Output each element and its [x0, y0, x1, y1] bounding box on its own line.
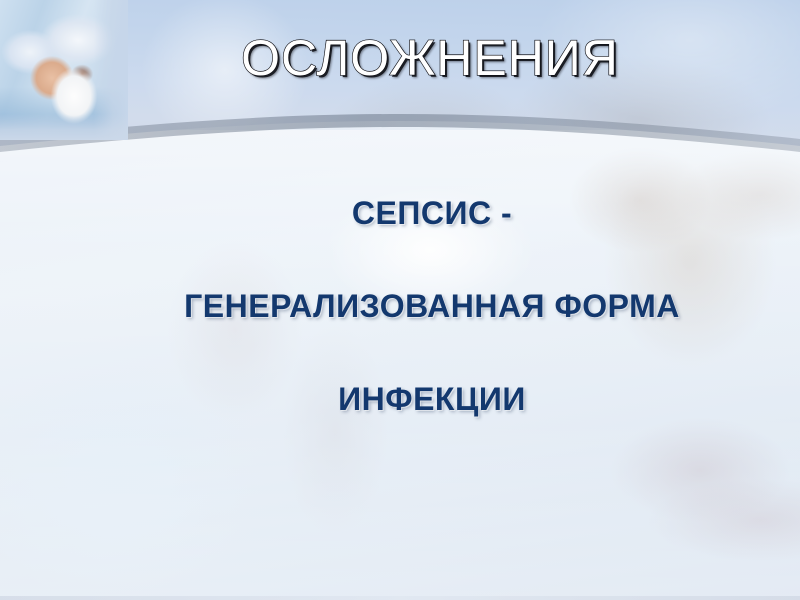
body-line-1: СЕПСИС - [184, 195, 680, 232]
photo-fade-bottom [0, 114, 128, 140]
presentation-slide: ОСЛОЖНЕНИЯ СЕПСИС - ГЕНЕРАЛИЗОВАННАЯ ФОР… [0, 0, 800, 600]
slide-title: ОСЛОЖНЕНИЯ [0, 32, 800, 85]
body-line-3: ИНФЕКЦИИ [184, 381, 680, 418]
slide-body-inner: СЕПСИС - ГЕНЕРАЛИЗОВАННАЯ ФОРМА ИНФЕКЦИИ [184, 195, 680, 418]
slide-body: СЕПСИС - ГЕНЕРАЛИЗОВАННАЯ ФОРМА ИНФЕКЦИИ [0, 195, 800, 418]
body-line-2: ГЕНЕРАЛИЗОВАННАЯ ФОРМА [184, 288, 680, 325]
slide-bottom-edge [0, 596, 800, 600]
slide-title-text: ОСЛОЖНЕНИЯ [241, 32, 619, 85]
